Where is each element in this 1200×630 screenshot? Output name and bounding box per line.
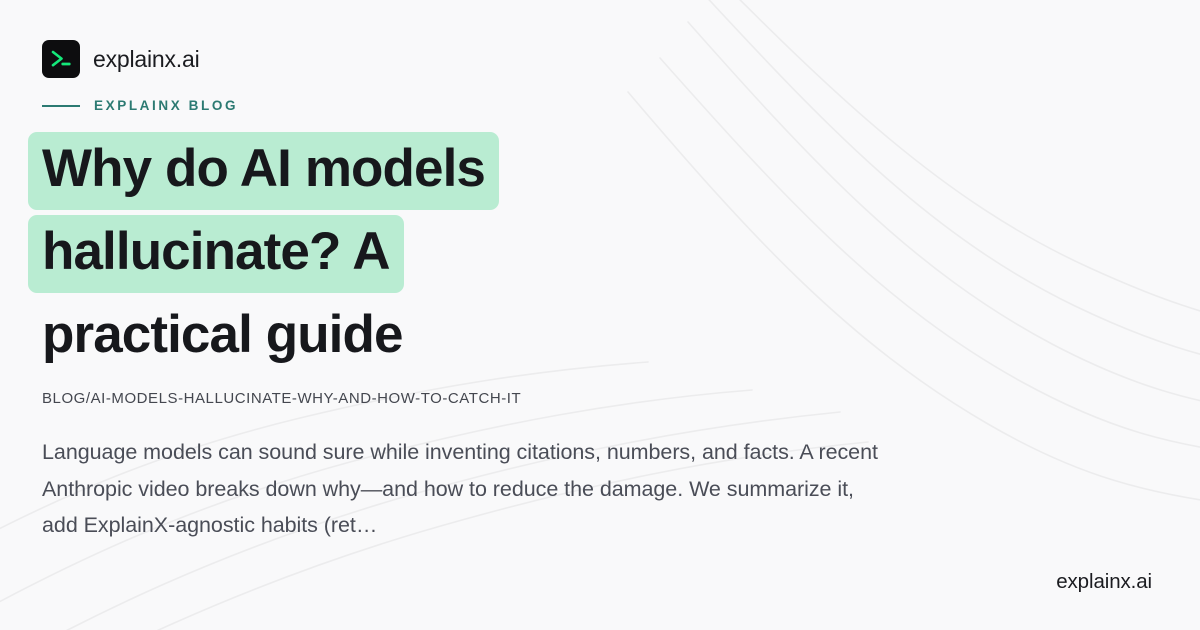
article-slug: BLOG/AI-MODELS-HALLUCINATE-WHY-AND-HOW-T… (42, 391, 1158, 406)
brand-name: explainx.ai (93, 48, 199, 71)
terminal-prompt-icon (42, 40, 80, 78)
title-line-1-highlight: Why do AI models (28, 132, 499, 210)
title-line-1: Why do AI models (42, 132, 742, 215)
eyebrow-text: EXPLAINX BLOG (94, 99, 238, 113)
blog-og-card: explainx.ai EXPLAINX BLOG Why do AI mode… (0, 0, 1200, 630)
title-line-2: hallucinate? A (42, 215, 742, 298)
eyebrow-rule (42, 105, 80, 107)
title-line-2-highlight: hallucinate? A (28, 215, 404, 293)
eyebrow-label: EXPLAINX BLOG (42, 98, 1158, 114)
article-description: Language models can sound sure while inv… (42, 434, 887, 543)
title-line-3-text: practical guide (42, 298, 403, 376)
brand-header: explainx.ai (42, 40, 1158, 78)
title-line-3: practical guide (42, 298, 742, 376)
card-content: explainx.ai EXPLAINX BLOG Why do AI mode… (0, 0, 1200, 630)
footer-watermark: explainx.ai (1056, 572, 1152, 593)
page-title: Why do AI models hallucinate? A practica… (42, 132, 742, 375)
